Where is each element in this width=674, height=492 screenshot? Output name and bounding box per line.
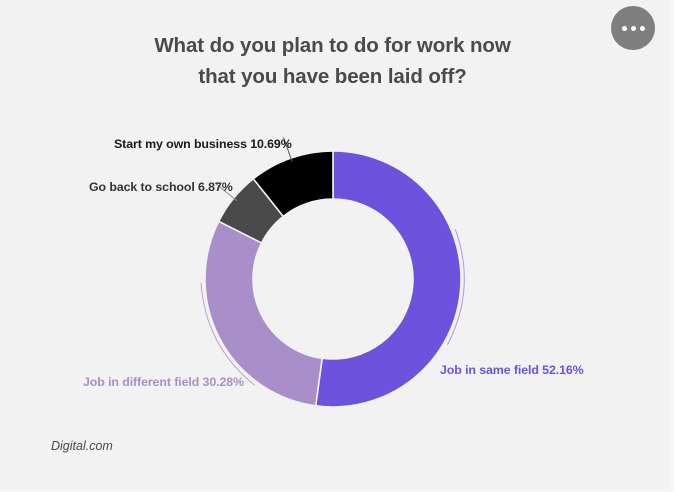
chart-canvas: What do you plan to do for work now that… <box>0 0 674 492</box>
page-title: What do you plan to do for work now that… <box>60 30 605 92</box>
leader-line <box>447 229 464 344</box>
ellipsis-icon <box>640 26 645 31</box>
brand-watermark: Digital.com <box>51 439 113 453</box>
ellipsis-icon <box>622 26 627 31</box>
slice-label-go-back-to-school: Go back to school 6.87% <box>89 180 233 194</box>
slice-label-start-my-own-business: Start my own business 10.69% <box>114 137 292 151</box>
ellipsis-icon <box>631 26 636 31</box>
donut-slice[interactable] <box>253 151 333 216</box>
leader-line <box>201 283 255 385</box>
slice-label-job-in-different-field: Job in different field 30.28% <box>83 375 244 389</box>
more-options-button[interactable] <box>611 6 655 50</box>
slice-label-job-in-same-field: Job in same field 52.16% <box>440 363 584 377</box>
